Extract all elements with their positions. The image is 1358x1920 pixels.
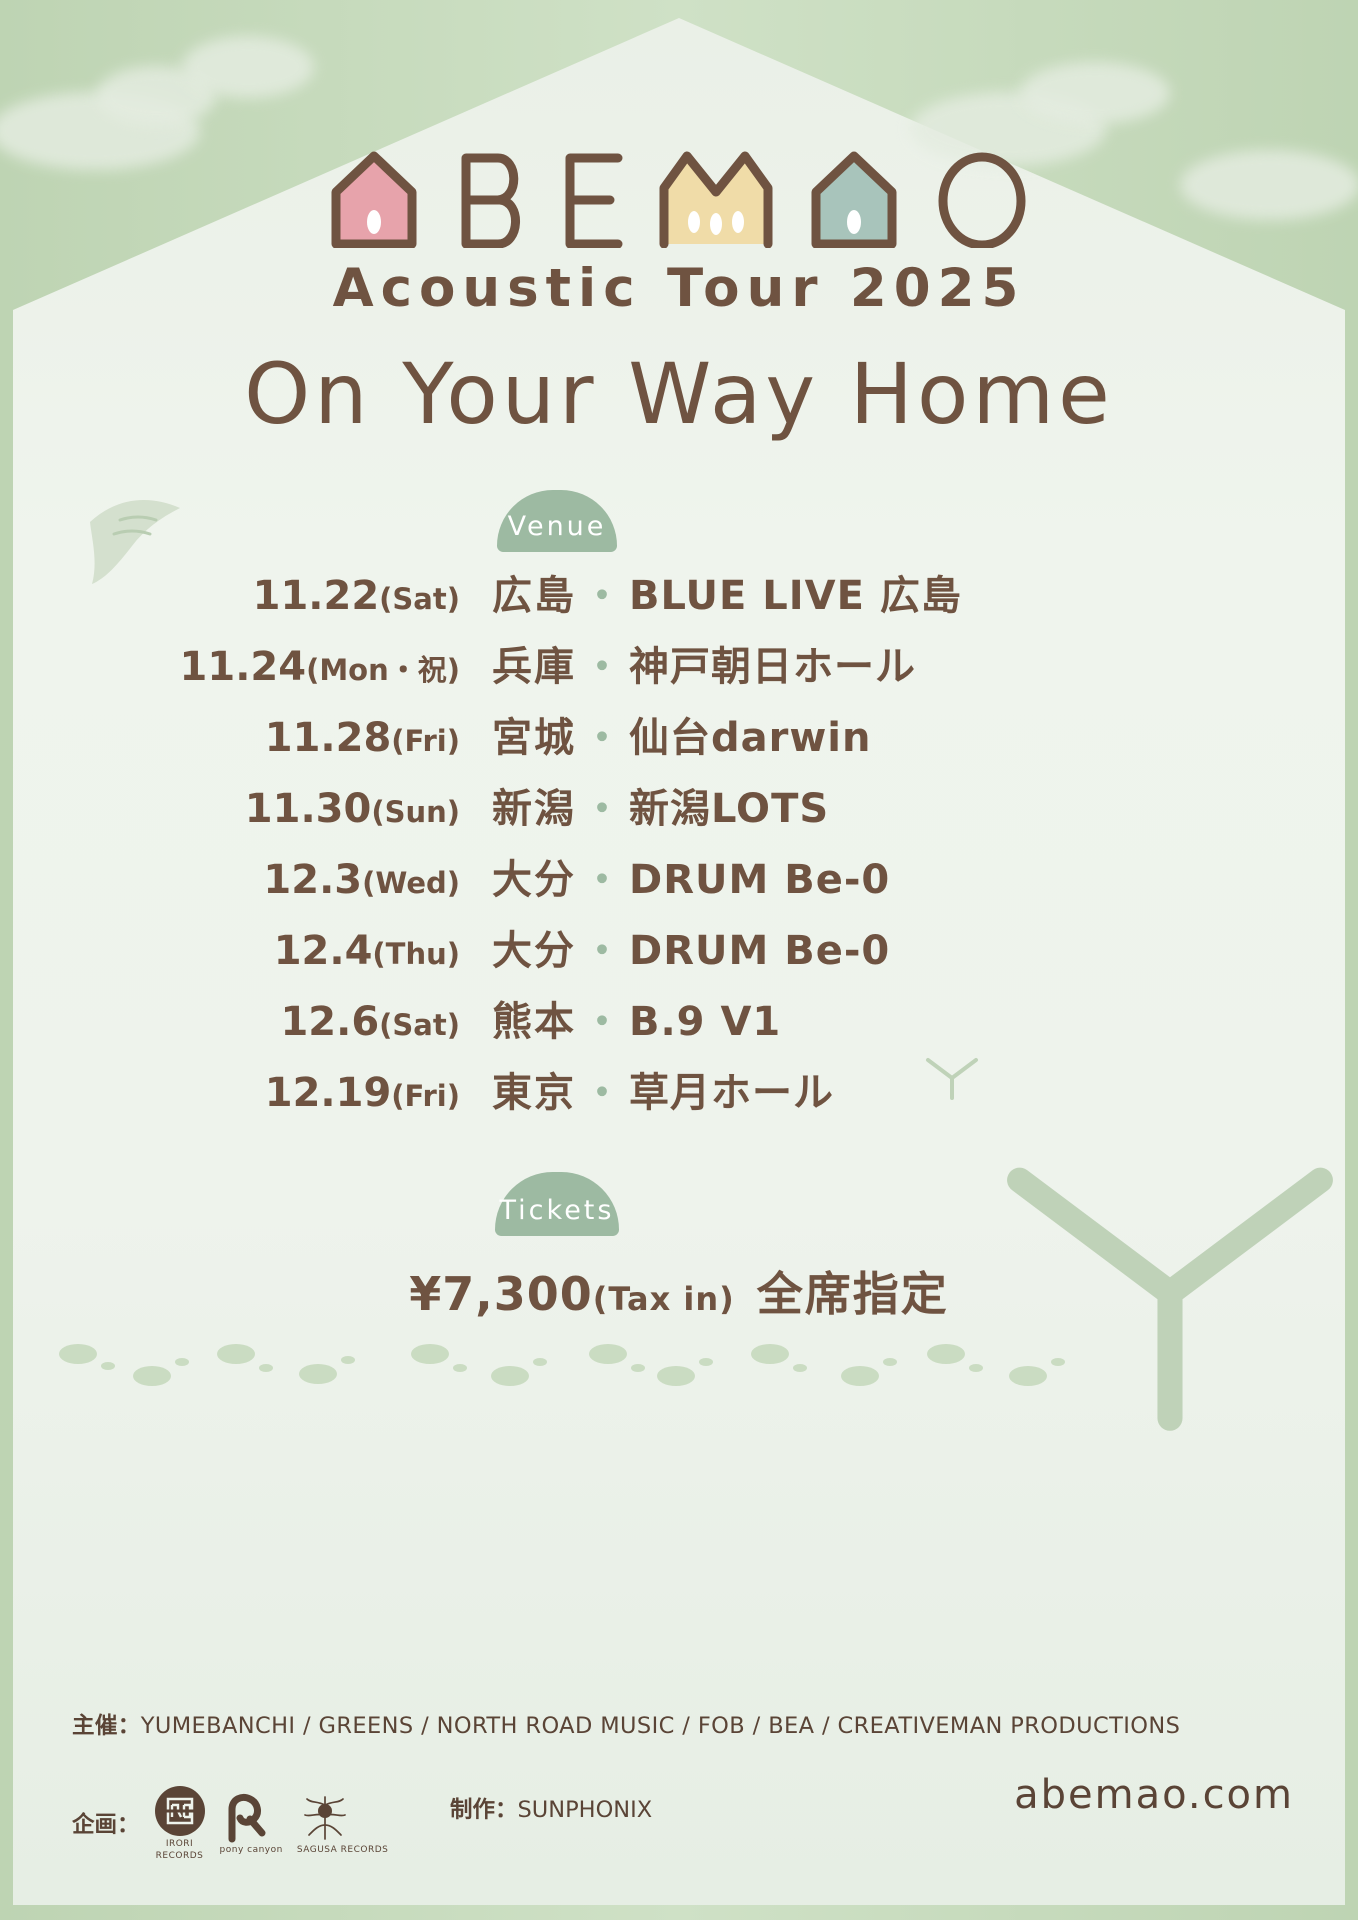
logo-letter-e-icon [554, 148, 628, 248]
logo-letter-b-icon [450, 148, 528, 248]
cloud-mid-icon [182, 36, 314, 98]
schedule-venue: 宮城・仙台darwin [460, 705, 872, 763]
sagusa-records-mark-icon [297, 1791, 353, 1843]
website-url[interactable]: abemao.com [1014, 1772, 1294, 1818]
table-row[interactable]: 11.24(Mon・祝) 兵庫・神戸朝日ホール [0, 634, 1358, 705]
table-row[interactable]: 11.22(Sat) 広島・BLUE LIVE 広島 [0, 563, 1358, 634]
ticket-price: ¥7,300 [409, 1267, 593, 1321]
separator-dot: ・ [576, 857, 629, 903]
schedule-date: 11.24(Mon・祝) [0, 644, 460, 690]
pony-canyon-caption: pony canyon [220, 1845, 283, 1855]
schedule-venue: 大分・DRUM Be-0 [460, 847, 890, 905]
schedule-venue-name: 神戸朝日ホール [629, 644, 916, 690]
schedule-date-value: 12.4 [274, 928, 373, 974]
schedule-date: 12.4(Thu) [0, 928, 460, 974]
schedule-date: 12.6(Sat) [0, 999, 460, 1045]
cloud-right-small-icon [1020, 62, 1170, 124]
schedule-venue-name: DRUM Be-0 [629, 857, 890, 903]
schedule-day-of-week: (Fri) [391, 724, 460, 758]
schedule-date: 11.30(Sun) [0, 786, 460, 832]
separator-dot: ・ [576, 573, 629, 619]
schedule-day-of-week: (Fri) [391, 1079, 460, 1113]
irori-records-mark-icon [154, 1785, 206, 1837]
schedule-venue: 広島・BLUE LIVE 広島 [460, 563, 962, 621]
logo-letter-m-house-cream-icon [654, 148, 778, 248]
abemao-logo [0, 148, 1358, 248]
schedule-date-value: 12.19 [265, 1070, 392, 1116]
schedule-day-of-week: (Thu) [372, 937, 460, 971]
schedule-prefecture: 東京 [492, 1070, 576, 1116]
schedule-venue: 大分・DRUM Be-0 [460, 918, 890, 976]
sagusa-records-logo: SAGUSA RECORDS [297, 1791, 389, 1855]
ticket-seating-note: 全席指定 [757, 1267, 949, 1321]
tour-schedule-list: 11.22(Sat) 広島・BLUE LIVE 広島 11.24(Mon・祝) … [0, 563, 1358, 1131]
production-value: SUNPHONIX [518, 1797, 653, 1823]
table-row[interactable]: 11.28(Fri) 宮城・仙台darwin [0, 705, 1358, 776]
schedule-venue-name: DRUM Be-0 [629, 928, 890, 974]
tour-title: On Your Way Home [0, 345, 1358, 443]
organizer-line: 主催：YUMEBANCHI / GREENS / NORTH ROAD MUSI… [72, 1708, 1180, 1740]
schedule-day-of-week: (Wed) [362, 866, 460, 900]
footprints-decoration [0, 1330, 1358, 1410]
schedule-prefecture: 宮城 [492, 715, 576, 761]
production-line: 制作：SUNPHONIX [450, 1792, 652, 1824]
schedule-venue: 兵庫・神戸朝日ホール [460, 634, 916, 692]
schedule-date-value: 11.28 [265, 715, 392, 761]
schedule-day-of-week: (Sun) [371, 795, 460, 829]
schedule-prefecture: 大分 [492, 857, 576, 903]
schedule-prefecture: 熊本 [492, 999, 576, 1045]
schedule-venue: 新潟・新潟LOTS [460, 776, 829, 834]
irori-caption-top: IRORI [154, 1839, 206, 1849]
schedule-date: 12.19(Fri) [0, 1070, 460, 1116]
schedule-date-value: 12.3 [263, 857, 362, 903]
venue-badge-label: Venue [508, 511, 607, 542]
schedule-venue-name: BLUE LIVE 広島 [629, 573, 962, 619]
schedule-date: 11.28(Fri) [0, 715, 460, 761]
schedule-prefecture: 新潟 [492, 786, 576, 832]
planning-label: 企画： [72, 1807, 140, 1839]
poster-footer: 主催：YUMEBANCHI / GREENS / NORTH ROAD MUSI… [0, 1680, 1358, 1920]
table-row[interactable]: 12.4(Thu) 大分・DRUM Be-0 [0, 918, 1358, 989]
table-row[interactable]: 12.19(Fri) 東京・草月ホール [0, 1060, 1358, 1131]
separator-dot: ・ [576, 999, 629, 1045]
logo-letter-o-icon [930, 148, 1034, 248]
tickets-badge-label: Tickets [500, 1195, 615, 1226]
schedule-date: 12.3(Wed) [0, 857, 460, 903]
schedule-venue: 熊本・B.9 V1 [460, 989, 781, 1047]
pony-canyon-mark-icon [220, 1791, 272, 1843]
schedule-date-value: 11.24 [180, 644, 307, 690]
schedule-venue-name: B.9 V1 [629, 999, 781, 1045]
schedule-date: 11.22(Sat) [0, 573, 460, 619]
schedule-day-of-week: (Mon・祝) [306, 653, 460, 687]
schedule-prefecture: 大分 [492, 928, 576, 974]
ticket-tax-note: (Tax in) [593, 1280, 735, 1318]
schedule-date-value: 11.22 [253, 573, 380, 619]
schedule-venue-name: 新潟LOTS [629, 786, 829, 832]
sagusa-caption: SAGUSA RECORDS [297, 1845, 389, 1855]
schedule-prefecture: 兵庫 [492, 644, 576, 690]
logo-letter-a-house-teal-icon [804, 148, 904, 248]
table-row[interactable]: 11.30(Sun) 新潟・新潟LOTS [0, 776, 1358, 847]
pony-canyon-logo: pony canyon [220, 1791, 283, 1855]
production-label: 制作： [450, 1797, 518, 1823]
schedule-venue-name: 草月ホール [629, 1070, 834, 1116]
separator-dot: ・ [576, 644, 629, 690]
tour-subtitle: Acoustic Tour 2025 [0, 258, 1358, 319]
schedule-venue: 東京・草月ホール [460, 1060, 834, 1118]
schedule-day-of-week: (Sat) [379, 1008, 460, 1042]
schedule-venue-name: 仙台darwin [629, 715, 872, 761]
schedule-prefecture: 広島 [492, 573, 576, 619]
separator-dot: ・ [576, 715, 629, 761]
organizer-label: 主催： [72, 1713, 141, 1739]
irori-caption-bottom: RECORDS [154, 1851, 206, 1861]
tour-poster: Acoustic Tour 2025 On Your Way Home Venu… [0, 0, 1358, 1920]
irori-records-logo: IRORI RECORDS [154, 1785, 206, 1861]
schedule-date-value: 11.30 [245, 786, 372, 832]
ticket-price-line: ¥7,300(Tax in)全席指定 [0, 1258, 1358, 1324]
separator-dot: ・ [576, 928, 629, 974]
planning-row: 企画： IRORI RECORDS pony canyon [72, 1785, 388, 1861]
separator-dot: ・ [576, 1070, 629, 1116]
logo-letter-a-house-pink-icon [324, 148, 424, 248]
table-row[interactable]: 12.3(Wed) 大分・DRUM Be-0 [0, 847, 1358, 918]
schedule-date-value: 12.6 [280, 999, 379, 1045]
separator-dot: ・ [576, 786, 629, 832]
organizer-value: YUMEBANCHI / GREENS / NORTH ROAD MUSIC /… [141, 1713, 1181, 1739]
schedule-day-of-week: (Sat) [379, 582, 460, 616]
table-row[interactable]: 12.6(Sat) 熊本・B.9 V1 [0, 989, 1358, 1060]
